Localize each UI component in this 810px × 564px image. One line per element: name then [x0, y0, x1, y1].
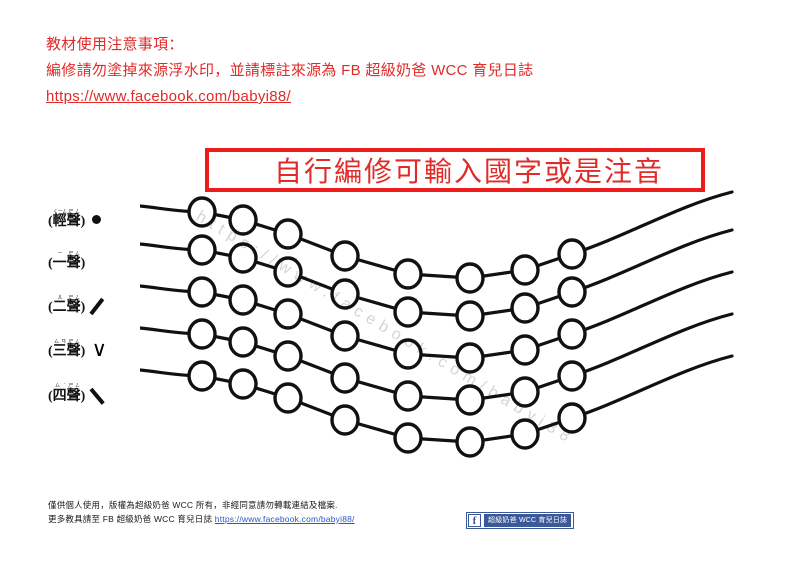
tone-node-circle[interactable] — [457, 344, 483, 372]
tone-node-circle[interactable] — [275, 220, 301, 248]
tone-node-circle[interactable] — [189, 278, 215, 306]
strand-lead-out — [572, 356, 732, 418]
diagram-canvas — [140, 190, 810, 500]
tone-node-circle[interactable] — [332, 364, 358, 392]
tone-node-circle[interactable] — [512, 336, 538, 364]
tone-node-circle[interactable] — [395, 424, 421, 452]
tone-strand — [140, 230, 732, 330]
tone-node-circle[interactable] — [395, 382, 421, 410]
tone-node-circle[interactable] — [512, 378, 538, 406]
tone-node-circle[interactable] — [332, 280, 358, 308]
tone-node-circle[interactable] — [559, 404, 585, 432]
tone-node-circle[interactable] — [230, 328, 256, 356]
tone-label-second: (二ㄦ聲ㄕㄥ) — [48, 296, 85, 316]
tone-strand — [140, 314, 732, 414]
strand-lead-out — [572, 192, 732, 254]
footer-more-materials-text: 更多教具請至 FB 超級奶爸 WCC 育兒日誌 — [48, 514, 212, 524]
dot-mark-icon — [89, 210, 109, 230]
tone-node-circle[interactable] — [457, 264, 483, 292]
header-notice-block: 教材使用注意事項： 編修請勿塗掉來源浮水印，並請標註來源為 FB 超級奶爸 WC… — [46, 32, 686, 110]
tone-node-circle[interactable] — [275, 258, 301, 286]
tone-node-circle[interactable] — [512, 256, 538, 284]
facebook-f-icon: f — [468, 514, 481, 527]
footer-block: 僅供個人使用，版權為超級奶爸 WCC 所有，非經同意請勿轉載連結及檔案. 更多教… — [48, 498, 468, 526]
tone-node-circle[interactable] — [230, 286, 256, 314]
tone-node-circle[interactable] — [189, 198, 215, 226]
tone-node-circle[interactable] — [457, 386, 483, 414]
ruby-third-1: ㄙㄢ — [53, 340, 67, 345]
ruby-fourth-1: ㄙˋ — [53, 384, 67, 389]
tone-node-circle[interactable] — [275, 300, 301, 328]
dipping-tone-mark-icon: ∨ — [89, 340, 109, 360]
tone-strand — [140, 192, 732, 292]
tone-node-circle[interactable] — [189, 362, 215, 390]
tone-strand — [140, 272, 732, 372]
footer-facebook-link[interactable]: https://www.facebook.com/babyi88/ — [215, 514, 355, 524]
notice-line-1: 教材使用注意事項： — [46, 32, 686, 58]
strand-lead-out — [572, 272, 732, 334]
ruby-first-1: ㄧ — [53, 252, 67, 257]
facebook-page-badge[interactable]: f 超級奶爸 WCC 育兒日誌 — [466, 512, 574, 529]
tone-strand — [140, 356, 732, 456]
notice-source-link[interactable]: https://www.facebook.com/babyi88/ — [46, 84, 686, 110]
tone-node-circle[interactable] — [332, 322, 358, 350]
tone-node-circle[interactable] — [559, 362, 585, 390]
ruby-second-1: ㄦ — [53, 296, 67, 301]
tone-node-circle[interactable] — [189, 320, 215, 348]
tone-node-circle[interactable] — [230, 206, 256, 234]
tone-node-circle[interactable] — [559, 320, 585, 348]
tone-label-neutral: (輕ㄑㄧㄥ聲ㄕㄥ) — [48, 210, 85, 230]
ruby-neutral-1: ㄑㄧㄥ — [53, 210, 67, 215]
tone-node-circle[interactable] — [512, 420, 538, 448]
tone-node-circle[interactable] — [332, 242, 358, 270]
facebook-page-name: 超級奶爸 WCC 育兒日誌 — [484, 514, 571, 527]
tone-label-first: (一ㄧ聲ㄕㄥ) — [48, 252, 85, 272]
tone-label-fourth: (四ㄙˋ聲ㄕㄥ) — [48, 384, 85, 405]
notice-line-2: 編修請勿塗掉來源浮水印，並請標註來源為 FB 超級奶爸 WCC 育兒日誌 — [46, 58, 686, 84]
tone-node-circle[interactable] — [332, 406, 358, 434]
tone-node-circle[interactable] — [559, 278, 585, 306]
falling-tone-mark-icon — [89, 384, 109, 404]
tone-node-circle[interactable] — [457, 302, 483, 330]
ruby-third-2: ㄕㄥ — [67, 340, 81, 345]
tone-label-third: (三ㄙㄢ聲ㄕㄥ) — [48, 340, 85, 360]
tone-node-circle[interactable] — [395, 260, 421, 288]
tone-node-circle[interactable] — [230, 244, 256, 272]
ruby-fourth-2: ㄕㄥ — [67, 384, 81, 389]
tone-contour-diagram: https://www.facebook.com/babyi88 — [140, 190, 810, 500]
tone-node-circle[interactable] — [275, 342, 301, 370]
strand-lead-out — [572, 230, 732, 292]
ruby-second-2: ㄕㄥ — [67, 296, 81, 301]
strand-lead-out — [572, 314, 732, 376]
ruby-neutral-2: ㄕㄥ — [67, 210, 81, 215]
ruby-first-2: ㄕㄥ — [67, 252, 81, 257]
tone-node-circle[interactable] — [559, 240, 585, 268]
tone-node-circle[interactable] — [189, 236, 215, 264]
rising-tone-mark-icon — [89, 296, 109, 316]
tone-node-circle[interactable] — [275, 384, 301, 412]
tone-node-circle[interactable] — [395, 340, 421, 368]
tone-node-circle[interactable] — [395, 298, 421, 326]
tone-node-circle[interactable] — [457, 428, 483, 456]
footer-more-materials: 更多教具請至 FB 超級奶爸 WCC 育兒日誌 https://www.face… — [48, 512, 468, 526]
title-box-label: 自行編修可輸入國字或是注音 — [246, 150, 664, 190]
tone-node-circle[interactable] — [230, 370, 256, 398]
tone-node-circle[interactable] — [512, 294, 538, 322]
editable-title-box[interactable]: 自行編修可輸入國字或是注音 — [205, 148, 705, 192]
footer-copyright: 僅供個人使用，版權為超級奶爸 WCC 所有，非經同意請勿轉載連結及檔案. — [48, 498, 468, 512]
